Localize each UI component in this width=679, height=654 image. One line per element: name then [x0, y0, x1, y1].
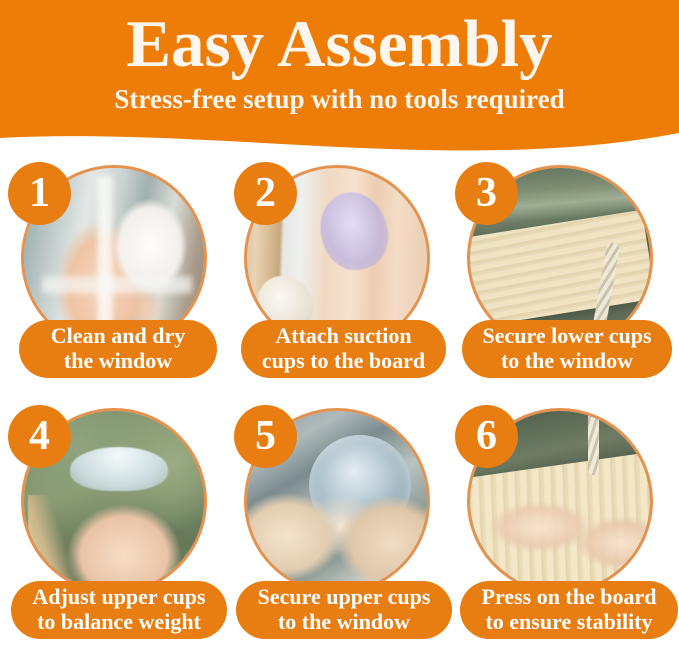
step-2-label: Attach suction cups to the board — [262, 324, 425, 374]
step-1-number: 1 — [29, 172, 50, 214]
step-4-label: Adjust upper cups to balance weight — [32, 585, 205, 635]
step-5-label-pill: Secure upper cups to the window — [236, 581, 452, 639]
step-3-number-badge: 3 — [455, 162, 518, 225]
step-1-label: Clean and dry the window — [51, 324, 185, 374]
step-card-2: 2 Attach suction cups to the board — [227, 158, 453, 406]
header-banner: Easy Assembly Stress-free setup with no … — [0, 0, 679, 160]
step-4-number: 4 — [29, 415, 50, 457]
step-card-1: 1 Clean and dry the window — [1, 158, 227, 406]
step-4-label-pill: Adjust upper cups to balance weight — [11, 581, 227, 639]
step-2-label-pill: Attach suction cups to the board — [241, 320, 446, 378]
step-2-number: 2 — [255, 172, 276, 214]
step-card-6: 6 Press on the board to ensure stability — [453, 401, 679, 649]
step-card-4: 4 Adjust upper cups to balance weight — [1, 401, 227, 649]
step-3-label: Secure lower cups to the window — [482, 324, 651, 374]
step-card-3: 3 Secure lower cups to the window — [453, 158, 679, 406]
step-card-5: 5 Secure upper cups to the window — [227, 401, 453, 649]
step-6-label: Press on the board to ensure stability — [482, 585, 657, 635]
page-subtitle: Stress-free setup with no tools required — [0, 78, 679, 113]
step-2-number-badge: 2 — [234, 162, 297, 225]
steps-grid: 1 Clean and dry the window 2 Attach suct… — [0, 158, 679, 654]
step-5-label: Secure upper cups to the window — [258, 585, 431, 635]
step-5-number-badge: 5 — [234, 405, 297, 468]
step-1-number-badge: 1 — [8, 162, 71, 225]
step-1-label-pill: Clean and dry the window — [19, 320, 217, 378]
step-6-number-badge: 6 — [455, 405, 518, 468]
step-5-number: 5 — [255, 415, 276, 457]
step-3-number: 3 — [476, 172, 497, 214]
page-title: Easy Assembly — [0, 0, 679, 78]
step-6-label-pill: Press on the board to ensure stability — [460, 581, 678, 639]
step-4-number-badge: 4 — [8, 405, 71, 468]
step-3-label-pill: Secure lower cups to the window — [462, 320, 672, 378]
step-6-number: 6 — [476, 415, 497, 457]
rope-detail — [588, 411, 599, 475]
